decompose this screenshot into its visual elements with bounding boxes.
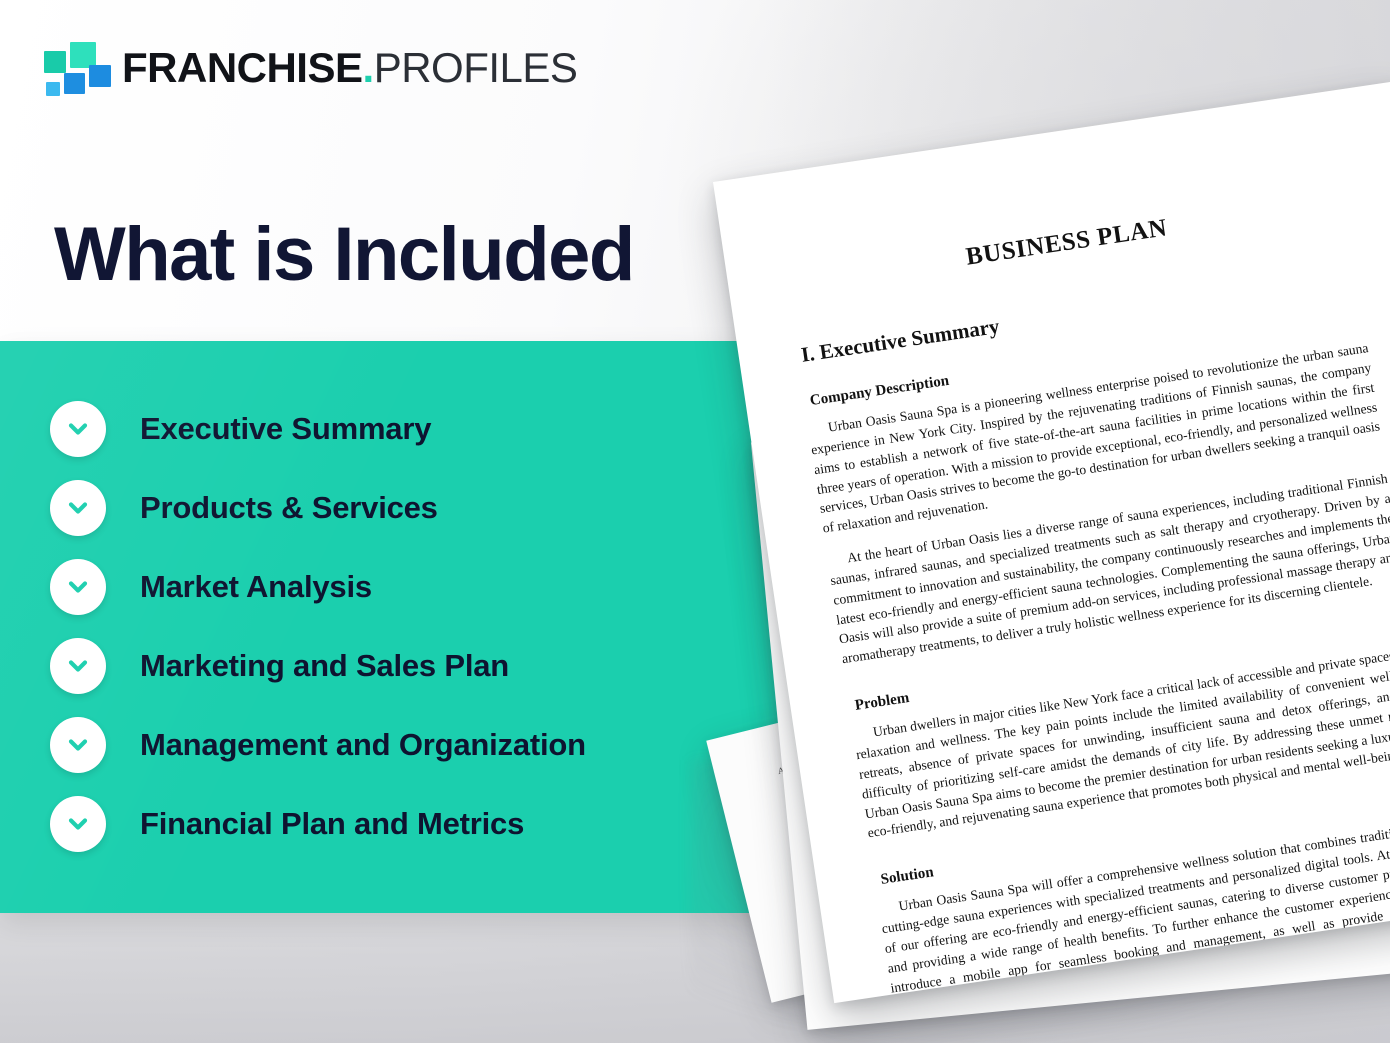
brand-name-dot: . [363, 44, 374, 91]
list-item-label: Market Analysis [140, 569, 372, 605]
chevron-down-icon [50, 480, 106, 536]
document-body: BUSINESS PLAN I. Executive Summary Compa… [779, 152, 1390, 1003]
brand-name-bold: FRANCHISE [122, 44, 363, 91]
list-item[interactable]: Executive Summary [50, 401, 818, 457]
included-list: Executive Summary Products & Services Ma… [50, 401, 818, 875]
squares-logo-icon [44, 42, 106, 94]
list-item[interactable]: Financial Plan and Metrics [50, 796, 818, 852]
list-item-label: Marketing and Sales Plan [140, 648, 509, 684]
brand-wordmark: FRANCHISE.PROFILES [122, 47, 577, 89]
brand-name-light: PROFILES [374, 44, 578, 91]
chevron-down-icon [50, 559, 106, 615]
list-item[interactable]: Marketing and Sales Plan [50, 638, 818, 694]
list-item-label: Products & Services [140, 490, 438, 526]
list-item-label: Financial Plan and Metrics [140, 806, 524, 842]
list-item-label: Executive Summary [140, 411, 431, 447]
page-title: What is Included [54, 215, 634, 295]
brand-logo[interactable]: FRANCHISE.PROFILES [44, 42, 577, 94]
chevron-down-icon [50, 717, 106, 773]
chevron-down-icon [50, 401, 106, 457]
slide-root: FRANCHISE.PROFILES What is Included Exec… [0, 0, 1390, 1043]
list-item-label: Management and Organization [140, 727, 586, 763]
chevron-down-icon [50, 796, 106, 852]
list-item[interactable]: Market Analysis [50, 559, 818, 615]
document-page-front[interactable]: BUSINESS PLAN I. Executive Summary Compa… [713, 81, 1390, 1003]
list-item[interactable]: Products & Services [50, 480, 818, 536]
chevron-down-icon [50, 638, 106, 694]
list-item[interactable]: Management and Organization [50, 717, 818, 773]
included-section-band: Executive Summary Products & Services Ma… [0, 341, 838, 913]
